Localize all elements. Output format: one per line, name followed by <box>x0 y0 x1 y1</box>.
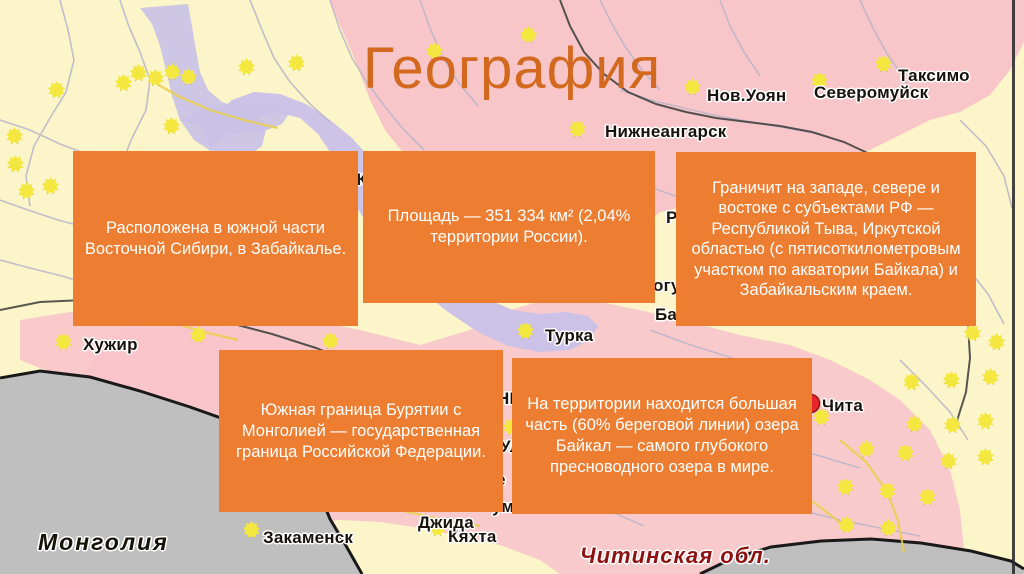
map-city-label: Хужир <box>83 335 138 355</box>
map-city-label: Закаменск <box>263 528 353 548</box>
fact-text-area: Площадь — 351 334 км² (2,04% территории … <box>373 206 645 248</box>
fact-text-mongolia: Южная граница Бурятии с Монголией — госу… <box>229 400 493 463</box>
fact-box-mongolia-border: Южная граница Бурятии с Монголией — госу… <box>219 350 503 512</box>
fact-text-borders: Граничит на западе, севере и востоке с с… <box>686 178 966 301</box>
fact-box-borders: Граничит на западе, севере и востоке с с… <box>676 152 976 326</box>
page-title: География <box>0 38 1024 100</box>
map-city-label: Нижнеангарск <box>605 122 727 142</box>
map-partial-label: Джида <box>418 513 474 533</box>
fact-box-location: Расположена в южной части Восточной Сиби… <box>73 151 358 326</box>
fact-box-baikal: На территории находится большая часть (6… <box>512 358 812 514</box>
fact-text-location: Расположена в южной части Восточной Сиби… <box>83 218 348 260</box>
map-city-label: Чита <box>822 396 863 416</box>
map-city-label: Турка <box>545 326 593 346</box>
slide-root: Нов.УоянСеверомуйскТаксимоНижнеангарскХу… <box>0 0 1024 574</box>
fact-box-area: Площадь — 351 334 км² (2,04% территории … <box>363 151 655 303</box>
fact-text-baikal: На территории находится большая часть (6… <box>522 394 802 478</box>
map-region-label: Читинская обл. <box>580 543 771 569</box>
map-country-label: Монголия <box>38 529 169 556</box>
